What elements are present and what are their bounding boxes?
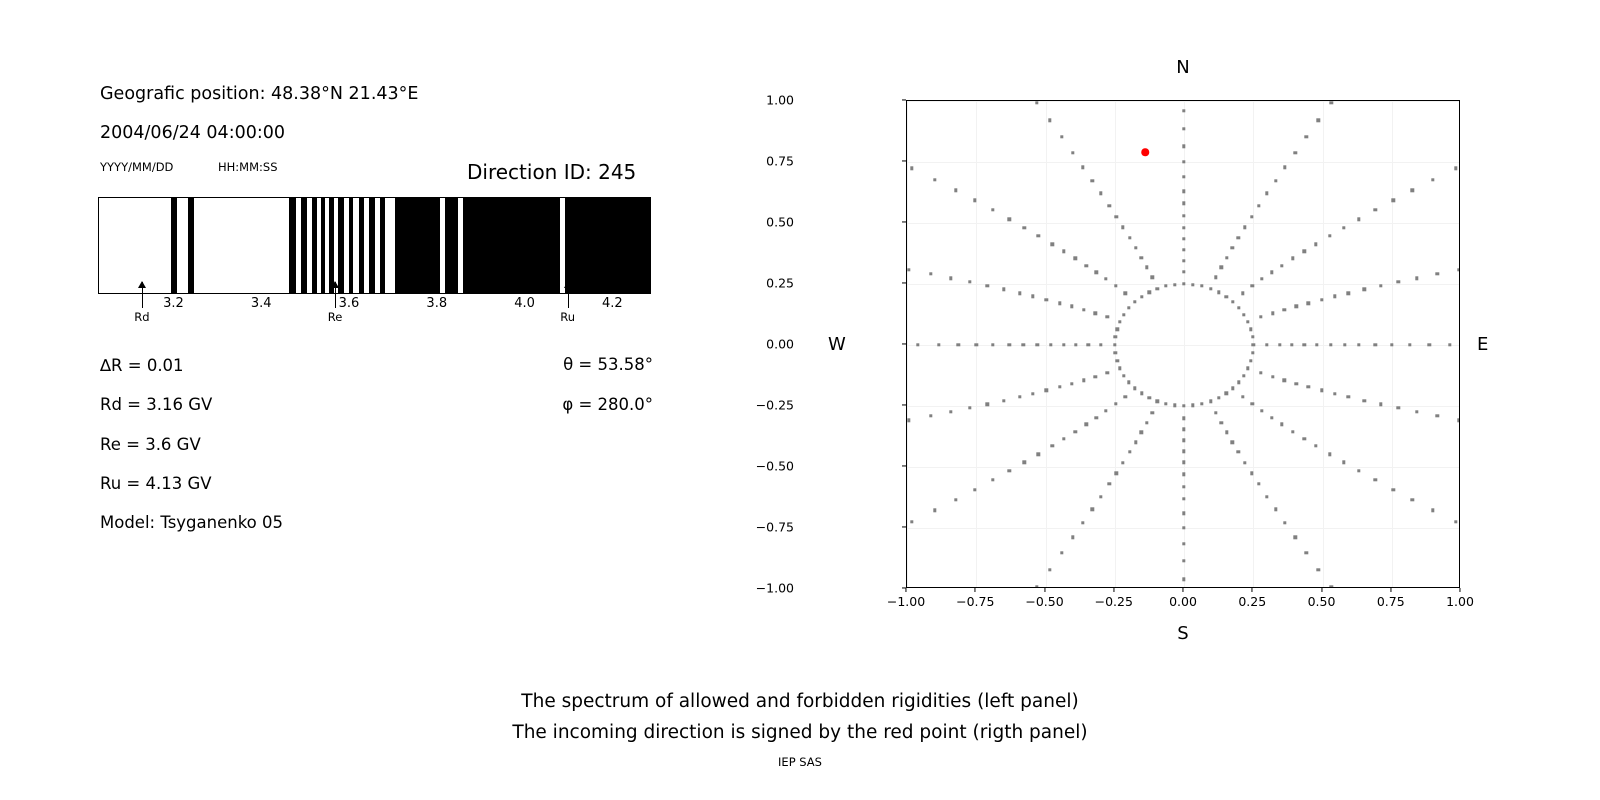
direction-dot	[1049, 343, 1052, 346]
direction-dot	[1295, 382, 1298, 385]
direction-dot	[957, 343, 960, 346]
direction-dot	[1225, 431, 1228, 434]
direction-dot	[1124, 292, 1127, 295]
direction-dot	[1114, 335, 1117, 338]
direction-dot	[1293, 151, 1296, 154]
direction-dot	[1035, 101, 1038, 104]
direction-dot	[1291, 257, 1294, 260]
direction-dot	[1249, 328, 1252, 331]
direction-dot	[1182, 559, 1185, 562]
direction-dot	[1231, 386, 1234, 389]
direction-dot	[1237, 236, 1240, 239]
direction-dot	[1182, 226, 1185, 229]
sky-y-tick-mark	[902, 526, 906, 527]
direction-dot	[1002, 399, 1005, 402]
sky-y-tick-label: −0.25	[756, 398, 794, 413]
direction-dot	[1140, 295, 1143, 298]
direction-dot	[1022, 343, 1025, 346]
direction-dot	[933, 178, 936, 181]
direction-dot	[933, 508, 936, 511]
direction-dot	[1249, 359, 1252, 362]
sky-y-tick-mark	[902, 160, 906, 161]
direction-dot	[1148, 290, 1151, 293]
direction-dot	[1134, 246, 1137, 249]
sky-y-tick-mark	[902, 404, 906, 405]
forbidden-band	[445, 198, 458, 293]
direction-dot	[1121, 461, 1124, 464]
direction-dot	[1431, 178, 1434, 181]
direction-dot	[1156, 400, 1159, 403]
direction-dot	[1031, 295, 1034, 298]
direction-dot	[1008, 469, 1011, 472]
direction-dot	[1391, 199, 1394, 202]
sky-y-tick-label: 0.75	[766, 154, 794, 169]
direction-dot	[1280, 423, 1283, 426]
direction-dot	[1182, 578, 1185, 581]
sky-x-tick-mark	[1182, 588, 1183, 592]
forbidden-band	[312, 198, 316, 293]
direction-dot	[1347, 395, 1350, 398]
direction-dot	[1045, 298, 1048, 301]
direction-dot	[986, 402, 989, 405]
direction-dot	[1182, 190, 1185, 193]
direction-dot	[973, 199, 976, 202]
direction-dot	[1265, 495, 1268, 498]
forbidden-band	[171, 198, 177, 293]
direction-dot	[1283, 378, 1286, 381]
direction-dot	[1133, 300, 1136, 303]
direction-dot	[1051, 444, 1054, 447]
direction-dot	[1250, 215, 1253, 218]
direction-dot	[1182, 526, 1185, 529]
direction-dot	[910, 167, 913, 170]
direction-dot	[991, 208, 994, 211]
direction-dot	[1415, 276, 1418, 279]
direction-id-label: Direction ID: 245	[467, 160, 636, 184]
direction-dot	[1295, 305, 1298, 308]
direction-dot	[1320, 389, 1323, 392]
direction-dot	[1051, 242, 1054, 245]
direction-dot	[1224, 295, 1227, 298]
caption-line-2: The incoming direction is signed by the …	[0, 717, 1600, 748]
sky-y-tick-label: 1.00	[766, 93, 794, 108]
direction-dot	[1062, 249, 1065, 252]
forbidden-band	[369, 198, 374, 293]
sky-x-tick-mark	[975, 588, 976, 592]
direction-dot	[1094, 312, 1097, 315]
direction-dot	[991, 343, 994, 346]
sky-y-tick-mark	[902, 221, 906, 222]
direction-dot	[1081, 165, 1084, 168]
direction-dot	[1164, 402, 1167, 405]
direction-dot	[1454, 520, 1457, 523]
direction-dot	[1122, 313, 1125, 316]
sky-x-tick-mark	[1252, 588, 1253, 592]
direction-dot	[1305, 135, 1308, 138]
sky-x-tick-mark	[1321, 588, 1322, 592]
figure-caption: The spectrum of allowed and forbidden ri…	[0, 686, 1600, 748]
direction-dot	[1008, 343, 1011, 346]
direction-dot	[1121, 226, 1124, 229]
direction-dot	[1073, 430, 1076, 433]
direction-dot	[1133, 386, 1136, 389]
direction-dot	[1374, 478, 1377, 481]
direction-dot	[1099, 192, 1102, 195]
direction-dot	[1283, 165, 1286, 168]
gridline-vertical	[907, 101, 908, 587]
direction-dot	[1182, 202, 1185, 205]
direction-dot	[1328, 234, 1331, 237]
rigidity-tick-label: 4.0	[514, 296, 535, 311]
direction-dot	[1164, 284, 1167, 287]
direction-dot	[1182, 282, 1185, 285]
sky-y-tick-label: −0.75	[756, 520, 794, 535]
direction-dot	[1280, 264, 1283, 267]
direction-dot	[1246, 320, 1249, 323]
direction-dot	[1115, 328, 1118, 331]
direction-dot	[1259, 371, 1262, 374]
arrow-head-icon	[331, 281, 339, 288]
forbidden-band	[289, 198, 296, 293]
rigidity-tick-label: 3.4	[251, 296, 272, 311]
direction-dot	[1182, 259, 1185, 262]
compass-east-label: E	[1477, 334, 1488, 355]
gridline-horizontal	[907, 467, 1459, 468]
direction-dot	[1182, 416, 1185, 419]
direction-dot	[907, 418, 910, 421]
direction-dot	[1062, 343, 1065, 346]
caption-line-1: The spectrum of allowed and forbidden ri…	[0, 686, 1600, 717]
sky-x-tick-label: 0.00	[1169, 594, 1197, 609]
sky-x-tick-label: −0.50	[1025, 594, 1063, 609]
direction-dot	[1357, 469, 1360, 472]
direction-dot	[1329, 343, 1332, 346]
forbidden-band	[301, 198, 307, 293]
sky-y-tick-label: −1.00	[756, 581, 794, 596]
direction-dot	[1115, 359, 1118, 362]
direction-dot	[1373, 343, 1376, 346]
direction-dot	[1270, 416, 1273, 419]
sky-y-tick-label: 0.00	[766, 337, 794, 352]
direction-dot	[1062, 437, 1065, 440]
direction-dot	[1257, 204, 1260, 207]
direction-dot	[1108, 482, 1111, 485]
direction-dot	[1411, 498, 1414, 501]
direction-dot	[1251, 284, 1254, 287]
direction-dot	[986, 284, 989, 287]
direction-dot	[937, 343, 940, 346]
direction-dot	[1252, 343, 1255, 346]
direction-dot	[1182, 237, 1185, 240]
direction-dot	[1118, 367, 1121, 370]
direction-dot	[1303, 249, 1306, 252]
direction-dot	[1283, 521, 1286, 524]
direction-dot	[1225, 256, 1228, 259]
gridline-vertical	[1046, 101, 1047, 587]
param-rd: Rd = 3.16 GV	[100, 395, 212, 414]
forbidden-band	[463, 198, 560, 293]
direction-dot	[1243, 226, 1246, 229]
direction-dot	[1085, 264, 1088, 267]
direction-dot	[1099, 495, 1102, 498]
direction-dot	[1243, 461, 1246, 464]
direction-dot	[1231, 440, 1234, 443]
direction-dot	[1191, 404, 1194, 407]
direction-dot	[1122, 374, 1125, 377]
direction-dot	[1217, 396, 1220, 399]
forbidden-band	[380, 198, 385, 293]
direction-dot	[1108, 204, 1111, 207]
direction-dot	[1099, 343, 1102, 346]
direction-dot	[1082, 378, 1085, 381]
direction-dot	[954, 498, 957, 501]
direction-dot	[1070, 382, 1073, 385]
direction-dot	[1379, 402, 1382, 405]
direction-dot	[1140, 392, 1143, 395]
geographic-position-text: Geografic position: 48.38°N 21.43°E	[100, 84, 418, 104]
direction-dot	[975, 343, 978, 346]
sky-x-tick-label: 1.00	[1446, 594, 1474, 609]
param-phi: φ = 280.0°	[562, 395, 653, 414]
direction-dot	[1457, 268, 1460, 271]
direction-dot	[1396, 406, 1399, 409]
direction-dot	[1329, 585, 1332, 588]
direction-dot	[1209, 287, 1212, 290]
direction-dot	[968, 406, 971, 409]
direction-dot	[1363, 399, 1366, 402]
direction-dot	[1094, 375, 1097, 378]
direction-dot	[1250, 472, 1253, 475]
direction-dot	[1128, 236, 1131, 239]
direction-dot	[1002, 288, 1005, 291]
sky-x-tick-label: −0.75	[956, 594, 994, 609]
sky-x-tick-mark	[1044, 588, 1045, 592]
direction-dot	[1314, 444, 1317, 447]
direction-dot	[973, 488, 976, 491]
direction-dot	[1237, 306, 1240, 309]
direction-dot	[1374, 208, 1377, 211]
direction-dot	[1317, 568, 1320, 571]
direction-dot	[1241, 395, 1244, 398]
direction-dot	[1115, 215, 1118, 218]
direction-dot	[1237, 450, 1240, 453]
direction-dot	[1023, 461, 1026, 464]
sky-y-tick-label: −0.50	[756, 459, 794, 474]
direction-dot	[1246, 367, 1249, 370]
direction-dot	[1128, 450, 1131, 453]
direction-dot	[1035, 343, 1038, 346]
direction-dot	[1314, 242, 1317, 245]
direction-dot	[1260, 277, 1263, 280]
direction-dot	[1106, 371, 1109, 374]
direction-dot	[1145, 421, 1148, 424]
sky-y-tick-mark	[902, 282, 906, 283]
direction-dot	[1237, 380, 1240, 383]
direction-dot	[1415, 410, 1418, 413]
direction-dot	[1182, 214, 1185, 217]
direction-dot	[1271, 375, 1274, 378]
direction-dot	[1091, 179, 1094, 182]
direction-dot	[1058, 385, 1061, 388]
direction-dot	[1283, 308, 1286, 311]
direction-dot	[1391, 488, 1394, 491]
sky-x-tick-mark	[1459, 588, 1460, 592]
sky-x-tick-mark	[1113, 588, 1114, 592]
direction-dot	[1023, 226, 1026, 229]
direction-dot	[1363, 288, 1366, 291]
direction-dot	[1191, 283, 1194, 286]
direction-dot	[1342, 461, 1345, 464]
direction-dot	[1173, 283, 1176, 286]
direction-dot	[1071, 536, 1074, 539]
direction-dot	[1305, 551, 1308, 554]
param-re: Re = 3.6 GV	[100, 435, 201, 454]
direction-dot	[1150, 276, 1153, 279]
direction-dot	[1087, 343, 1090, 346]
direction-dot	[1411, 189, 1414, 192]
left-panel: Geografic position: 48.38°N 21.43°E 2004…	[0, 0, 800, 800]
direction-dot	[1113, 343, 1116, 346]
direction-dot	[1018, 292, 1021, 295]
rigidity-axis: 3.23.43.63.84.04.2RdReRu	[98, 294, 651, 354]
direction-dot	[1214, 276, 1217, 279]
direction-dot	[1219, 421, 1222, 424]
direction-dot	[1060, 135, 1063, 138]
direction-dot	[1436, 414, 1439, 417]
direction-dot	[1008, 217, 1011, 220]
direction-dot	[1173, 404, 1176, 407]
direction-dot	[1347, 292, 1350, 295]
direction-dot	[1127, 380, 1130, 383]
direction-dot	[1018, 395, 1021, 398]
direction-dot	[1140, 431, 1143, 434]
gridline-horizontal	[907, 223, 1459, 224]
date-format-hint: YYYY/MM/DD	[100, 160, 173, 174]
direction-dot	[1145, 266, 1148, 269]
compass-north-label: N	[1176, 57, 1189, 78]
direction-dot	[1081, 521, 1084, 524]
direction-dot	[1182, 542, 1185, 545]
marker-label: Rd	[134, 310, 149, 324]
direction-dot	[1114, 402, 1117, 405]
param-ru: Ru = 4.13 GV	[100, 474, 212, 493]
sky-y-tick-label: 0.50	[766, 215, 794, 230]
direction-dot	[1182, 404, 1185, 407]
direction-dot	[1257, 482, 1260, 485]
direction-dot	[1091, 508, 1094, 511]
direction-dot	[1114, 284, 1117, 287]
direction-dot	[1436, 272, 1439, 275]
direction-dot	[1251, 351, 1254, 354]
direction-dot	[1265, 192, 1268, 195]
direction-dot	[1265, 343, 1268, 346]
sky-x-tick-label: 0.75	[1377, 594, 1405, 609]
direction-dot	[1396, 280, 1399, 283]
direction-dot	[1342, 226, 1345, 229]
selected-direction-point[interactable]	[1141, 148, 1149, 156]
sky-x-tick-mark	[1390, 588, 1391, 592]
forbidden-band	[321, 198, 325, 293]
direction-dot	[1291, 430, 1294, 433]
direction-dot	[1317, 119, 1320, 122]
direction-dot	[1328, 452, 1331, 455]
direction-dot	[1251, 402, 1254, 405]
direction-dot	[1182, 160, 1185, 163]
direction-dot	[1074, 343, 1077, 346]
direction-dot	[1303, 437, 1306, 440]
direction-dot	[1182, 175, 1185, 178]
forbidden-band	[338, 198, 344, 293]
sky-y-tick-mark	[902, 99, 906, 100]
gridline-horizontal	[907, 101, 1459, 102]
forbidden-band-group	[99, 198, 650, 293]
direction-dot	[1343, 343, 1346, 346]
rigidity-tick-label: 4.2	[602, 296, 623, 311]
direction-dot	[1156, 287, 1159, 290]
direction-dot	[1209, 400, 1212, 403]
direction-dot	[1408, 343, 1411, 346]
arrow-head-icon	[138, 281, 146, 288]
direction-dot	[1048, 568, 1051, 571]
time-format-hint: HH:MM:SS	[218, 160, 278, 174]
direction-dot	[1048, 119, 1051, 122]
direction-dot	[1082, 308, 1085, 311]
direction-dot	[1320, 298, 1323, 301]
direction-dot	[1329, 101, 1332, 104]
direction-dot	[1127, 306, 1130, 309]
direction-dot	[1058, 302, 1061, 305]
direction-dot	[991, 478, 994, 481]
direction-dot	[1182, 512, 1185, 515]
direction-dot	[1182, 144, 1185, 147]
direction-dot	[1104, 277, 1107, 280]
direction-dot	[1182, 485, 1185, 488]
sky-x-tick-label: 0.25	[1238, 594, 1266, 609]
direction-dot	[1278, 343, 1281, 346]
marker-label: Re	[328, 310, 343, 324]
direction-dot	[1140, 256, 1143, 259]
direction-dot	[1457, 418, 1460, 421]
sky-y-tick-mark	[902, 465, 906, 466]
direction-dot	[1150, 411, 1153, 414]
sky-x-tick-label: 0.50	[1308, 594, 1336, 609]
direction-dot	[1118, 320, 1121, 323]
direction-dot	[968, 280, 971, 283]
gridline-vertical	[1323, 101, 1324, 587]
rigidity-tick-label: 3.6	[339, 296, 360, 311]
direction-dot	[1241, 292, 1244, 295]
forbidden-band	[349, 198, 353, 293]
direction-dot	[1115, 472, 1118, 475]
direction-dot	[1274, 508, 1277, 511]
direction-dot	[1307, 302, 1310, 305]
footer-credit: IEP SAS	[0, 755, 1600, 769]
forbidden-band	[359, 198, 364, 293]
direction-dot	[1333, 295, 1336, 298]
direction-dot	[1303, 343, 1306, 346]
direction-dot	[1106, 315, 1109, 318]
direction-dot	[1270, 271, 1273, 274]
direction-dot	[1390, 343, 1393, 346]
direction-dot	[1095, 271, 1098, 274]
direction-dot	[954, 189, 957, 192]
direction-dot	[1182, 449, 1185, 452]
direction-dot	[1073, 257, 1076, 260]
direction-dot	[1114, 351, 1117, 354]
sky-y-tick-label: 0.25	[766, 276, 794, 291]
direction-dot	[1333, 392, 1336, 395]
direction-dot	[1148, 396, 1151, 399]
